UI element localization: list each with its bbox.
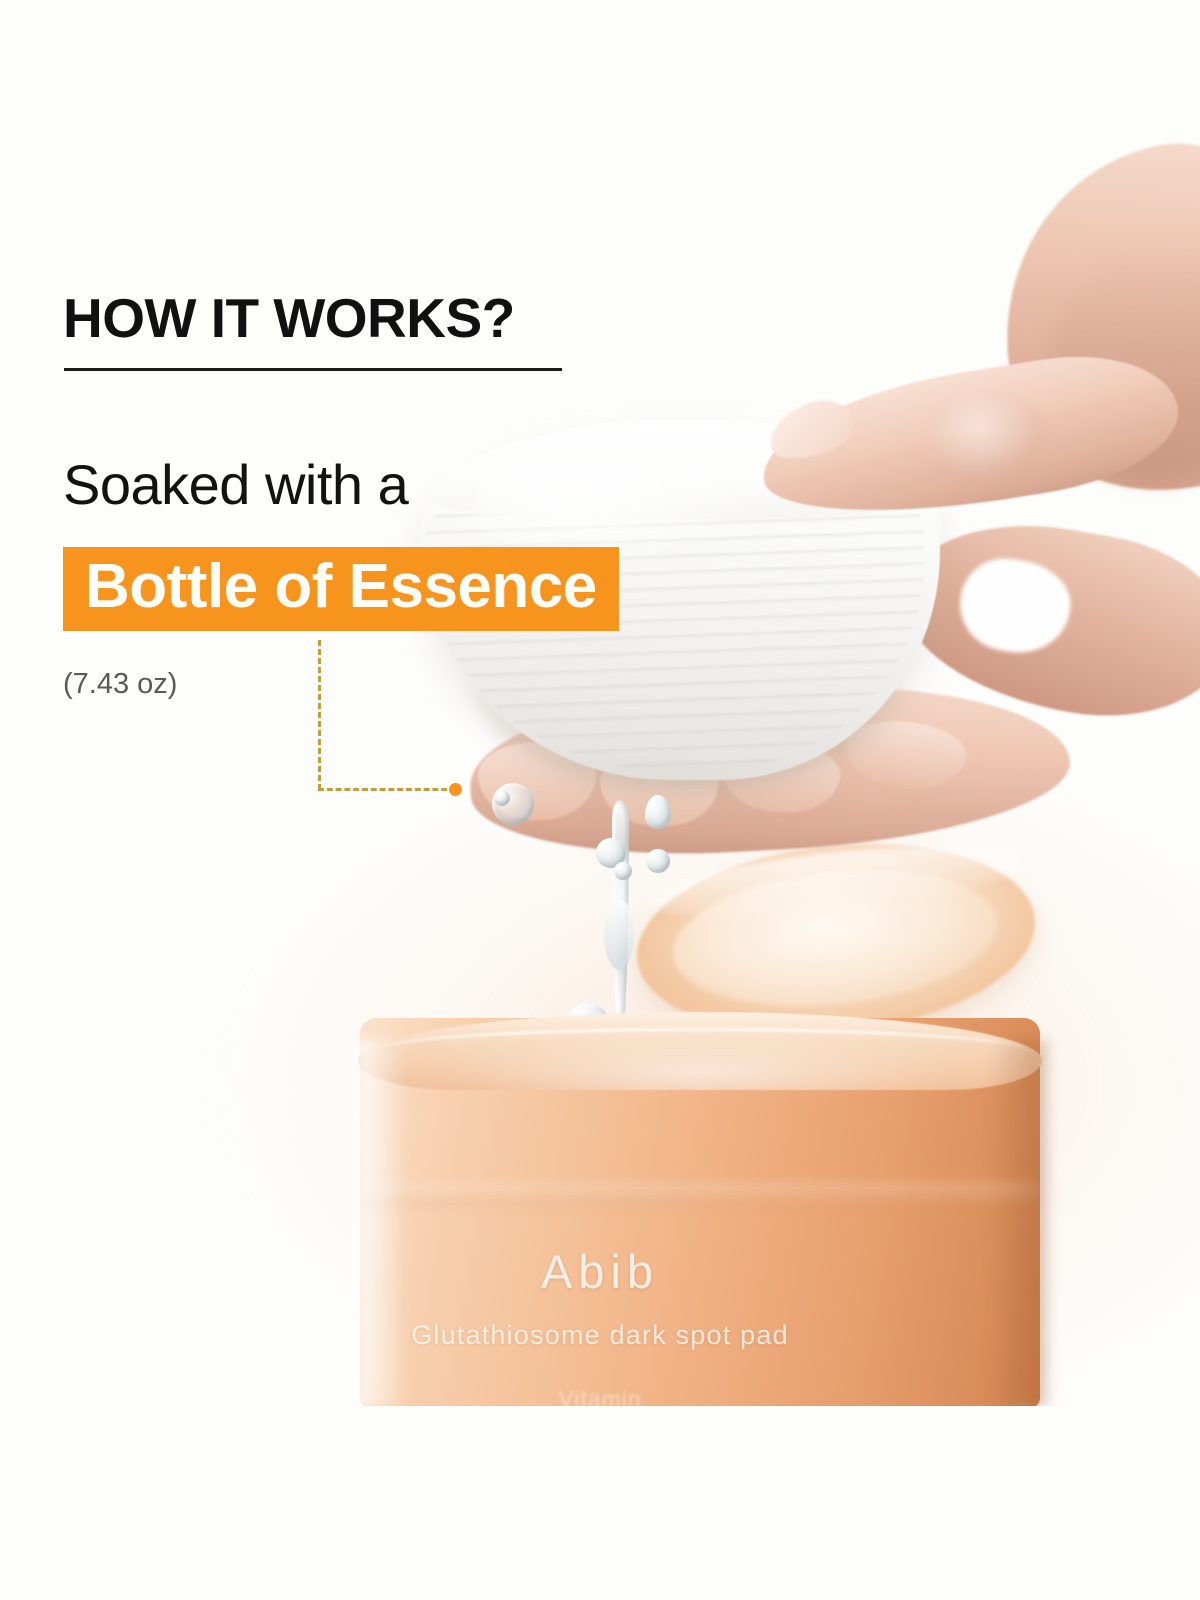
callout-dot: [449, 783, 462, 796]
highlight-banner: Bottle of Essence: [63, 547, 619, 631]
highlight-text: Bottle of Essence: [85, 552, 597, 621]
text-overlay: HOW IT WORKS? Soaked with a Bottle of Es…: [0, 0, 1200, 1600]
callout-line-horizontal: [318, 788, 456, 791]
volume-note: (7.43 oz): [63, 668, 177, 701]
marketing-image: Abib Glutathiosome dark spot pad Vitamin…: [0, 0, 1200, 1600]
page-title: HOW IT WORKS?: [63, 286, 515, 350]
subtitle-line-1: Soaked with a: [63, 452, 408, 517]
title-underline: [64, 368, 562, 371]
callout-line-vertical: [318, 640, 321, 790]
